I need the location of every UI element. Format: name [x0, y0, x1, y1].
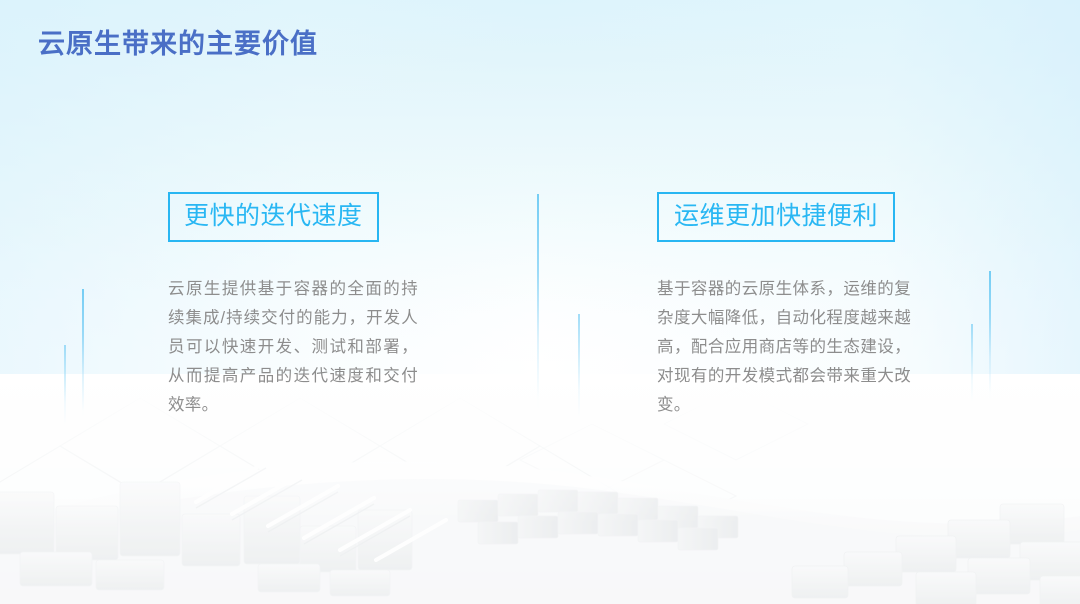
- background-architecture-artwork: [0, 374, 1080, 604]
- column-body-iteration-speed: 云原生提供基于容器的全面的持续集成/持续交付的能力，开发人员可以快速开发、测试和…: [168, 275, 418, 420]
- accent-line-mid-tall: [537, 194, 539, 416]
- accent-line-mid-short: [578, 314, 580, 418]
- accent-line-left-tall: [82, 289, 84, 421]
- page-title: 云原生带来的主要价值: [38, 22, 318, 61]
- column-heading-operations: 运维更加快捷便利: [657, 192, 895, 242]
- column-body-operations: 基于容器的云原生体系，运维的复杂度大幅降低，自动化程度越来越高，配合应用商店等的…: [657, 275, 911, 420]
- background-gradient-tint: [0, 0, 1080, 604]
- column-heading-iteration-speed: 更快的迭代速度: [168, 192, 379, 242]
- accent-line-right-short: [971, 324, 973, 402]
- value-column-iteration-speed: 更快的迭代速度 云原生提供基于容器的全面的持续集成/持续交付的能力，开发人员可以…: [168, 192, 418, 420]
- accent-line-right-tall: [989, 271, 991, 403]
- slide-canvas: 云原生带来的主要价值 更快的迭代速度 云原生提供基于容器的全面的持续集成/持续交…: [0, 0, 1080, 604]
- accent-line-left-short: [64, 345, 66, 425]
- value-column-operations: 运维更加快捷便利 基于容器的云原生体系，运维的复杂度大幅降低，自动化程度越来越高…: [657, 192, 911, 420]
